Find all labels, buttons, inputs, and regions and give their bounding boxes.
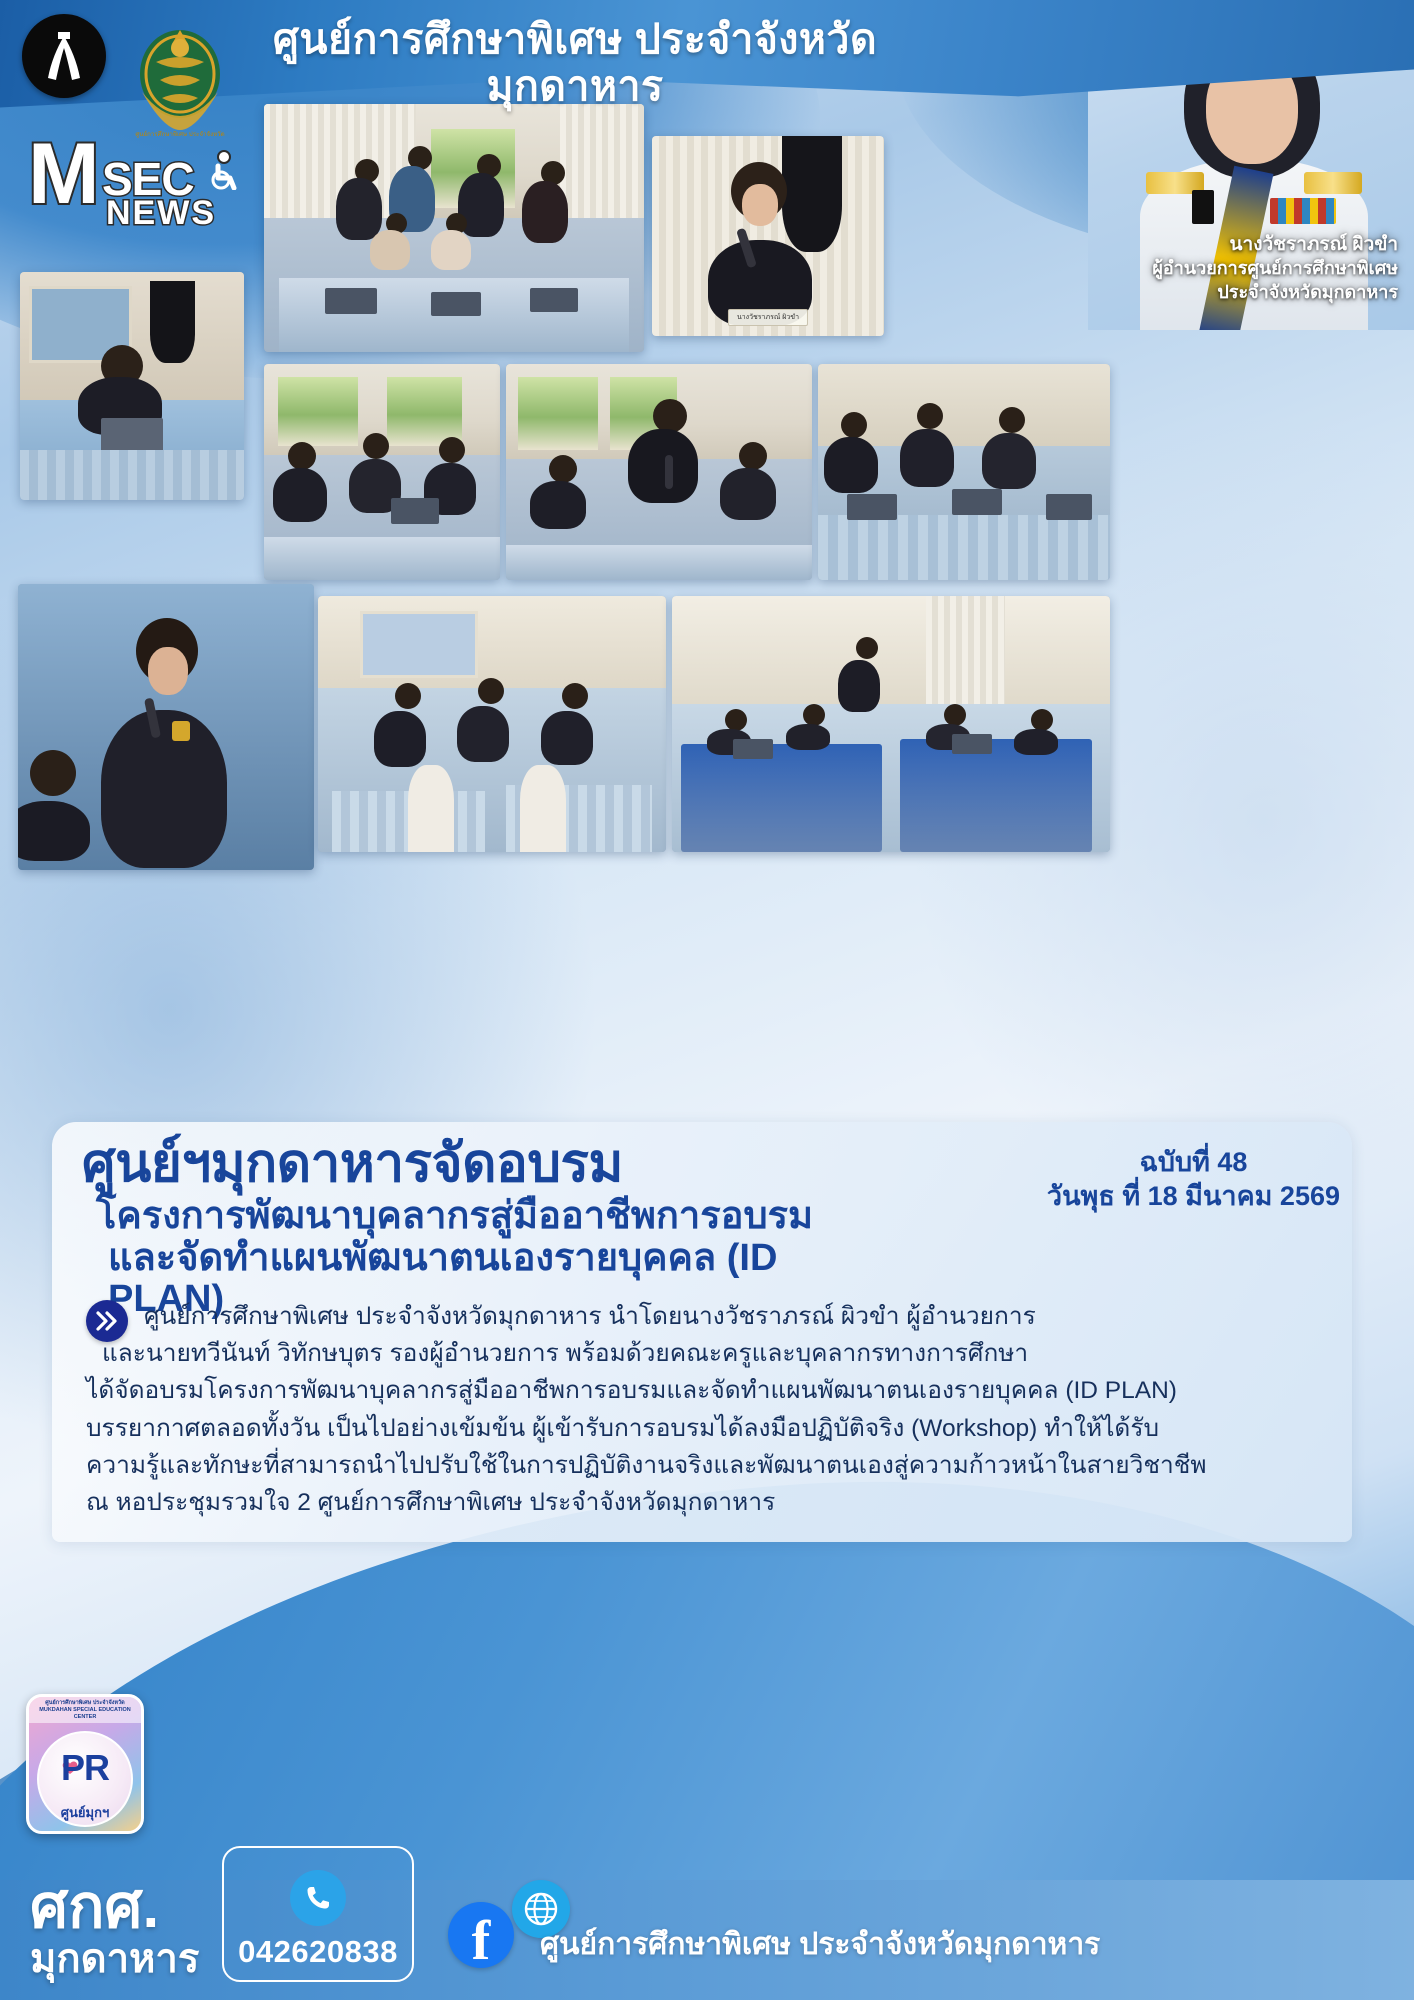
telephone-icon [290, 1870, 346, 1926]
pr-badge-header-line2: MUKDAHAN SPECIAL EDUCATION CENTER [29, 1707, 141, 1721]
photo-workshop-participants-b [506, 364, 812, 580]
pr-badge-header: ศูนย์การศึกษาพิเศษ ประจำจังหวัด MUKDAHAN… [29, 1697, 141, 1723]
pr-badge-header-line1: ศูนย์การศึกษาพิเศษ ประจำจังหวัด [29, 1700, 141, 1707]
logo-text-news: NEWS [106, 194, 216, 233]
news-poster: ศูนย์การศึกษาพิเศษ ประจำจังหวัด ศูนย์การ… [0, 0, 1414, 2000]
double-chevron-right-icon [86, 1300, 128, 1342]
pr-badge-subtitle: ศูนย์มุกฯ [29, 1802, 141, 1823]
issue-date: วันพุธ ที่ 18 มีนาคม 2569 [1047, 1180, 1340, 1214]
pr-badge: ศูนย์การศึกษาพิเศษ ประจำจังหวัด MUKDAHAN… [26, 1694, 144, 1834]
article-body: ศูนย์การศึกษาพิเศษ ประจำจังหวัดมุกดาหาร … [86, 1298, 1326, 1521]
headline-line-1: ศูนย์ฯมุกดาหารจัดอบรม [82, 1136, 882, 1192]
article-headline: ศูนย์ฯมุกดาหารจัดอบรม โครงการพัฒนาบุคลาก… [82, 1136, 882, 1319]
director-position-line1: ผู้อำนวยการศูนย์การศึกษาพิเศษ [1130, 257, 1398, 281]
body-line-5: ความรู้และทักษะที่สามารถนำไปปรับใช้ในการ… [86, 1447, 1326, 1484]
photo-conference-room-blue-tables [672, 596, 1110, 852]
body-line-2: และนายทวีนันท์ วิทักษบุตร รองผู้อำนวยการ… [86, 1335, 1326, 1372]
footer-org-logo: ศกศ. มุกดาหาร [30, 1878, 199, 1978]
headline-line-2: โครงการพัฒนาบุคลากรสู่มืออาชีพการอบรม [82, 1196, 882, 1236]
issue-number: ฉบับที่ 48 [1047, 1146, 1340, 1180]
issue-info: ฉบับที่ 48 วันพุธ ที่ 18 มีนาคม 2569 [1047, 1146, 1340, 1214]
photo-group-standing [264, 104, 644, 352]
photo-audience-hall [318, 596, 666, 852]
body-line-6: ณ หอประชุมรวมใจ 2 ศูนย์การศึกษาพิเศษ ประ… [86, 1484, 1326, 1521]
facebook-icon[interactable]: f [448, 1902, 514, 1968]
black-ribbon-icon [22, 14, 106, 98]
speaker-nameplate: นางวัชราภรณ์ ผิวขำ [728, 309, 808, 326]
facebook-glyph: f [472, 1915, 491, 1968]
phone-contact-box[interactable]: 042620838 [222, 1846, 414, 1982]
footer-org-abbrev: ศกศ. [30, 1878, 199, 1936]
photo-presenter-with-microphone [18, 584, 314, 870]
photo-speaker-with-microphone: นางวัชราภรณ์ ผิวขำ [652, 136, 884, 336]
director-caption: นางวัชราภรณ์ ผิวขำ ผู้อำนวยการศูนย์การศึ… [1130, 232, 1398, 305]
photo-workshop-participants-c [818, 364, 1110, 580]
phone-number[interactable]: 042620838 [238, 1934, 398, 1970]
pr-badge-initials: PR [39, 1747, 131, 1789]
footer-org-province: มุกดาหาร [30, 1940, 199, 1978]
svg-text:ศูนย์การศึกษาพิเศษ ประจำจังหวั: ศูนย์การศึกษาพิเศษ ประจำจังหวัด [135, 130, 224, 138]
photo-workshop-participants-a [264, 364, 500, 580]
logo-letter-m: M [28, 138, 100, 212]
wheelchair-accessibility-icon [206, 150, 240, 190]
page-title: ศูนย์การศึกษาพิเศษ ประจำจังหวัดมุกดาหาร [195, 16, 955, 110]
body-line-1: ศูนย์การศึกษาพิเศษ ประจำจังหวัดมุกดาหาร … [86, 1298, 1326, 1335]
photo-participant-at-laptop [20, 272, 244, 500]
msec-news-logo: M SEC NEWS [28, 138, 228, 248]
poster-header: ศูนย์การศึกษาพิเศษ ประจำจังหวัด ศูนย์การ… [0, 0, 1414, 120]
director-position-line2: ประจำจังหวัดมุกดาหาร [1130, 281, 1398, 305]
poster-footer: ศกศ. มุกดาหาร 042620838 f ศูนย์การศึก [0, 1840, 1414, 2000]
body-line-4: บรรยากาศตลอดทั้งวัน เป็นไปอย่างเข้มข้น ผ… [86, 1410, 1326, 1447]
director-name: นางวัชราภรณ์ ผิวขำ [1130, 232, 1398, 257]
footer-social-name: ศูนย์การศึกษาพิเศษ ประจำจังหวัดมุกดาหาร [540, 1921, 1100, 1968]
body-line-3: ได้จัดอบรมโครงการพัฒนาบุคลากรสู่มืออาชีพ… [86, 1372, 1326, 1409]
